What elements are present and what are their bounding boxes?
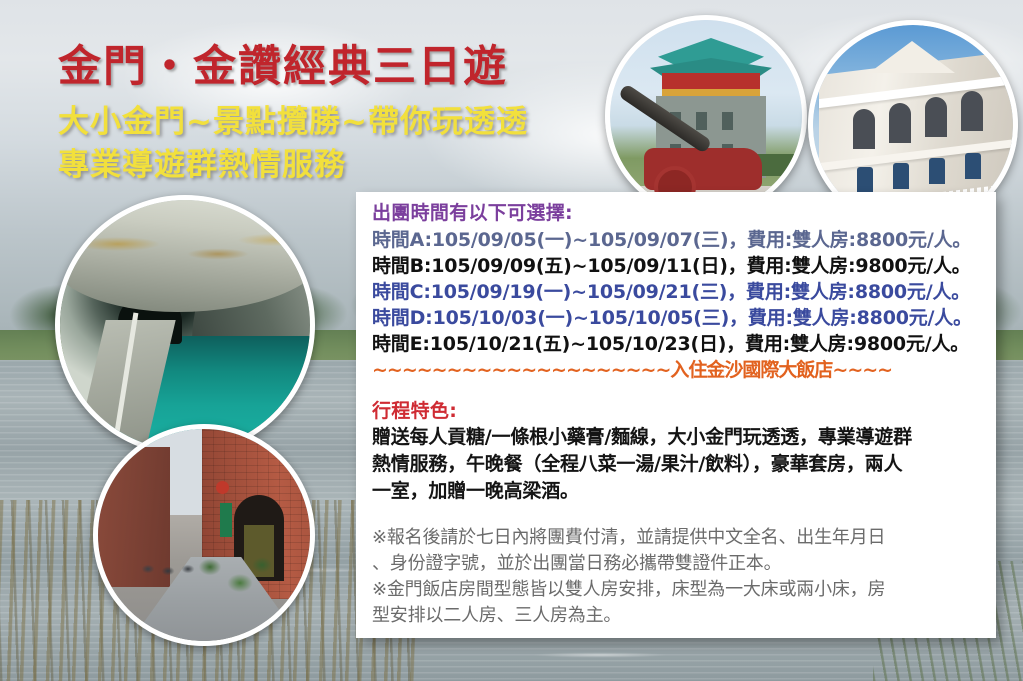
departure-row-c: 時間C:105/09/19(一)~105/09/21(三)，費用:雙人房:880… (372, 279, 982, 305)
note-line-1: ※報名後請於七日內將團費付清，並請提供中文全名、出生年月日 (372, 525, 982, 551)
features-line-1: 贈送每人貢糖/一條根小藥膏/麵線，大小金門玩透透，專業導遊群 (372, 424, 982, 451)
hotel-highlight-line: ~~~~~~~~~~~~~~~~~~~~入住金沙國際大飯店~~~~ (372, 358, 982, 382)
features-line-2: 熱情服務，午晚餐（全程八菜一湯/果汁/飲料），豪華套房，兩人 (372, 451, 982, 478)
cannon-and-pavilion-photo (605, 15, 807, 217)
departure-row-e: 時間E:105/10/21(五)~105/10/23(日)，費用:雙人房:980… (372, 331, 982, 357)
poster-title: 金門・金讚經典三日遊 (58, 32, 508, 94)
departure-row-d: 時間D:105/10/03(一)~105/10/05(三)，費用:雙人房:880… (372, 305, 982, 331)
zhaishan-tunnel-photo (55, 195, 315, 455)
information-panel: 出團時間有以下可選擇: 時間A:105/09/05(一)~105/09/07(三… (356, 192, 996, 638)
features-heading: 行程特色: (372, 398, 982, 424)
departure-row-b: 時間B:105/09/09(五)~105/09/11(日)，費用:雙人房:980… (372, 253, 982, 279)
note-line-2: 、身份證字號，並於出團當日務必攜帶雙證件正本。 (372, 551, 982, 577)
note-line-3: ※金門飯店房間型態皆以雙人房安排，床型為一大床或兩小床，房 (372, 577, 982, 603)
note-line-4: 型安排以二人房、三人房為主。 (372, 603, 982, 629)
old-brick-street-photo (93, 424, 315, 646)
poster-subtitle-secondary: 專業導遊群熱情服務 (58, 139, 346, 184)
departures-heading: 出團時間有以下可選擇: (372, 200, 982, 226)
features-line-3: 一室，加贈一晚高梁酒。 (372, 478, 982, 505)
departure-row-a: 時間A:105/09/05(一)~105/09/07(三)，費用:雙人房:880… (372, 227, 982, 253)
travel-poster: 金門・金讚經典三日遊 大小金門~景點攬勝~帶你玩透透 專業導遊群熱情服務 出團時… (0, 0, 1023, 681)
poster-subtitle-primary: 大小金門~景點攬勝~帶你玩透透 (58, 96, 528, 141)
